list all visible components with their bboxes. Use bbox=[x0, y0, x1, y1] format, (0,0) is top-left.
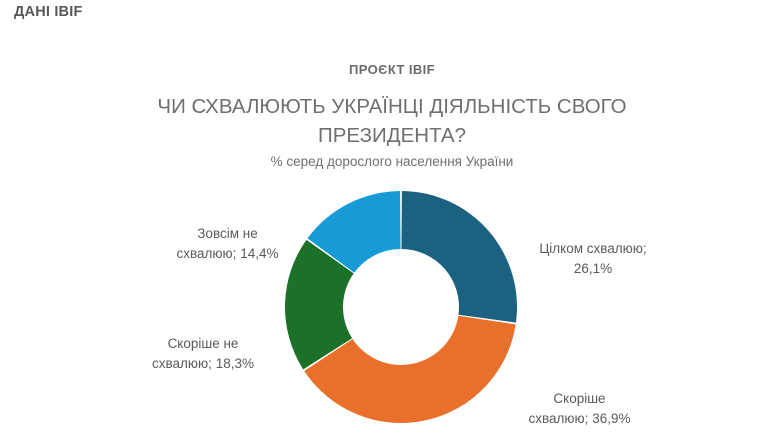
chart-subtitle: % серед дорослого населення України bbox=[92, 154, 692, 169]
chart-card: ПРОЄКТ IBIF ЧИ СХВАЛЮЮТЬ УКРАЇНЦІ ДІЯЛЬН… bbox=[0, 30, 784, 448]
chart-eyebrow: ПРОЄКТ IBIF bbox=[0, 62, 784, 77]
slice-label-rather-disapprove: Скоріше не схвалюю; 18,3% bbox=[128, 334, 278, 374]
donut-slice-group bbox=[285, 191, 517, 423]
chart-title: ЧИ СХВАЛЮЮТЬ УКРАЇНЦІ ДІЯЛЬНІСТЬ СВОГО П… bbox=[92, 92, 692, 150]
donut-slice bbox=[401, 191, 517, 323]
brand-bar: ДАНІ IBIF bbox=[0, 0, 784, 30]
donut-chart bbox=[285, 191, 517, 423]
brand-label: ДАНІ IBIF bbox=[14, 4, 83, 20]
slice-label-fully-approve: Цілком схвалюю; 26,1% bbox=[513, 239, 673, 279]
slice-label-rather-approve: Скоріше схвалюю; 36,9% bbox=[497, 389, 662, 429]
donut-chart-svg bbox=[285, 191, 517, 423]
slice-label-not-at-all: Зовсім не схвалюю; 14,4% bbox=[150, 224, 305, 264]
screenshot-root: ДАНІ IBIF ПРОЄКТ IBIF ЧИ СХВАЛЮЮТЬ УКРАЇ… bbox=[0, 0, 784, 448]
